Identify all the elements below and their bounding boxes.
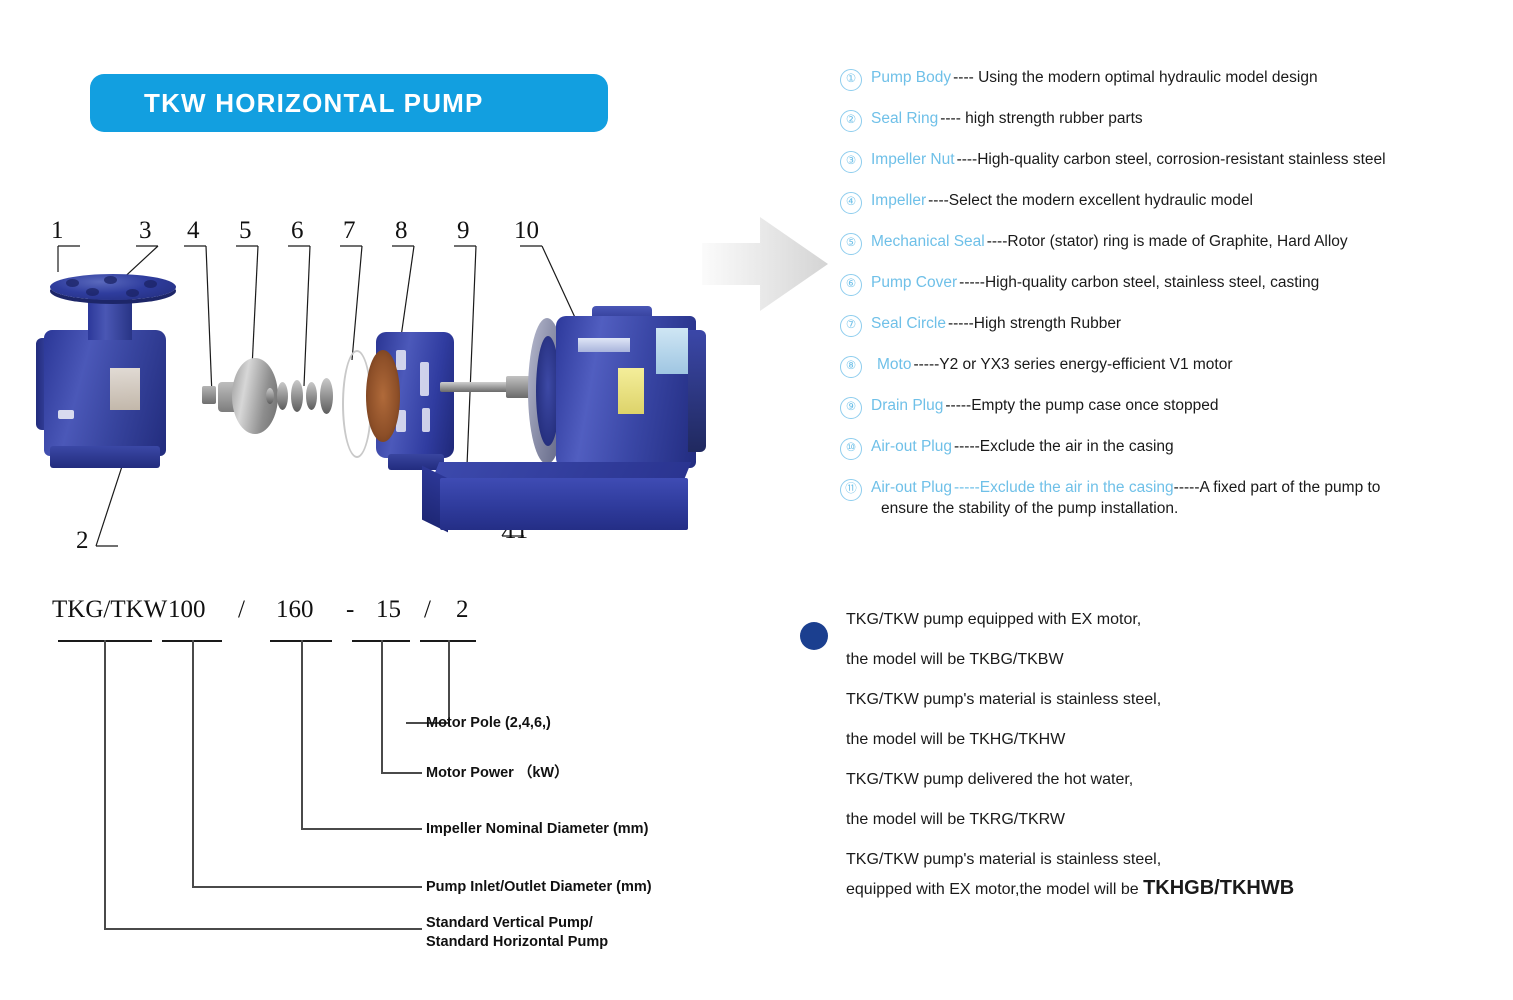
model-code-arm-power bbox=[381, 772, 422, 774]
callout-6: 6 bbox=[291, 218, 304, 243]
legend-separator: ----- bbox=[959, 274, 985, 291]
legend-separator: ---- bbox=[953, 69, 974, 86]
legend-number-icon: ⑥ bbox=[840, 274, 862, 296]
legend-item-7: ⑦ Seal Circle-----High strength Rubber bbox=[840, 314, 1500, 337]
page-title-badge: TKW HORIZONTAL PUMP bbox=[90, 74, 608, 132]
bullet-dot-icon bbox=[800, 622, 828, 650]
poster-root: TKW HORIZONTAL PUMP 1 3 4 5 6 7 bbox=[0, 0, 1513, 1000]
legend-part-desc: Y2 or YX3 series energy-efficient V1 mot… bbox=[939, 356, 1232, 373]
callout-4: 4 bbox=[187, 218, 200, 243]
model-code-arm-inlet bbox=[192, 886, 422, 888]
legend-item-body: Seal Ring---- high strength rubber parts bbox=[871, 109, 1500, 130]
legend-part-name: Mechanical Seal bbox=[871, 233, 985, 250]
legend-item-3: ③ Impeller Nut----High-quality carbon st… bbox=[840, 150, 1500, 173]
legend-number-icon: ④ bbox=[840, 192, 862, 214]
legend-separator: ----- bbox=[913, 356, 939, 373]
callout-7: 7 bbox=[343, 218, 356, 243]
model-code-label-motor-pole: Motor Pole (2,4,6,) bbox=[426, 714, 551, 733]
legend-number-icon: ① bbox=[840, 69, 862, 91]
legend-separator: ----- bbox=[948, 315, 974, 332]
legend-part-desc: Select the modern excellent hydraulic mo… bbox=[949, 192, 1253, 209]
callout-3: 3 bbox=[139, 218, 152, 243]
callout-5: 5 bbox=[239, 218, 252, 243]
legend-part-desc: Rotor (stator) ring is made of Graphite,… bbox=[1007, 233, 1347, 250]
legend-part-desc: Using the modern optimal hydraulic model… bbox=[974, 69, 1318, 86]
exploded-pump-diagram: 1 3 4 5 6 7 8 9 10 2 11 bbox=[36, 210, 736, 570]
legend-item-body: Moto-----Y2 or YX3 series energy-efficie… bbox=[871, 355, 1500, 376]
legend-item-8: ⑧ Moto-----Y2 or YX3 series energy-effic… bbox=[840, 355, 1500, 378]
model-code-label-standard-pump-line1: Standard Vertical Pump/ bbox=[426, 915, 593, 931]
legend-item-4: ④ Impeller----Select the modern excellen… bbox=[840, 191, 1500, 214]
model-code-impeller: 160 bbox=[276, 596, 314, 624]
model-code-prefix: TKG/TKW bbox=[52, 596, 167, 624]
model-code-stem-power bbox=[381, 640, 383, 772]
legend-item-body: Impeller----Select the modern excellent … bbox=[871, 191, 1500, 212]
legend-number-icon: ⑧ bbox=[840, 356, 862, 378]
pump-body-discharge-flange bbox=[50, 274, 176, 300]
model-code-label-motor-power: Motor Power （kW） bbox=[426, 764, 569, 783]
motor-fan-cover bbox=[688, 330, 706, 452]
legend-separator: ---- bbox=[940, 110, 961, 127]
note-line-3: TKG/TKW pump's material is stainless ste… bbox=[846, 692, 1440, 708]
legend-separator: ----- bbox=[954, 438, 980, 455]
legend-separator: ---- bbox=[928, 192, 949, 209]
callout-9: 9 bbox=[457, 218, 470, 243]
legend-number-icon: ⑦ bbox=[840, 315, 862, 337]
motor-label-strip bbox=[578, 338, 630, 352]
legend-item-11: ⑪ Air-out Plug-----Exclude the air in th… bbox=[840, 478, 1500, 520]
legend-part-desc: Exclude the air in the casing bbox=[980, 479, 1174, 496]
mechanical-seal-ring-3 bbox=[291, 380, 303, 412]
motor-nameplate-blue bbox=[656, 328, 688, 374]
parts-legend-list: ① Pump Body---- Using the modern optimal… bbox=[840, 68, 1500, 538]
legend-item-2: ② Seal Ring---- high strength rubber par… bbox=[840, 109, 1500, 132]
legend-item-body: Pump Cover-----High-quality carbon steel… bbox=[871, 273, 1500, 294]
legend-item-body: Pump Body---- Using the modern optimal h… bbox=[871, 68, 1500, 89]
legend-separator: ----- bbox=[945, 397, 971, 414]
legend-number-icon: ⑪ bbox=[840, 479, 862, 501]
legend-separator: ----- bbox=[954, 479, 980, 496]
pump-body-neck bbox=[88, 296, 132, 340]
legend-item-body: Seal Circle-----High strength Rubber bbox=[871, 314, 1500, 335]
model-code-label-standard-pump-line2: Standard Horizontal Pump bbox=[426, 934, 608, 950]
legend-part-desc: Empty the pump case once stopped bbox=[971, 397, 1218, 414]
model-code-inlet: 100 bbox=[168, 596, 206, 624]
model-code-stem-prefix bbox=[104, 640, 106, 928]
note-line-1: TKG/TKW pump equipped with EX motor, bbox=[846, 612, 1440, 628]
note-line-5: TKG/TKW pump delivered the hot water, bbox=[846, 772, 1440, 788]
mechanical-seal-ring-4 bbox=[306, 382, 317, 410]
legend-part-desc: high strength rubber parts bbox=[961, 110, 1143, 127]
model-code-label-inlet-dia: Pump Inlet/Outlet Diameter (mm) bbox=[426, 878, 652, 897]
legend-item-1: ① Pump Body---- Using the modern optimal… bbox=[840, 68, 1500, 91]
model-code-slash-2: / bbox=[424, 596, 431, 624]
model-naming-notes: TKG/TKW pump equipped with EX motor, the… bbox=[800, 612, 1440, 922]
legend-part-name: Drain Plug bbox=[871, 397, 943, 414]
model-code-pole: 2 bbox=[456, 596, 469, 624]
pump-body-nameplate bbox=[110, 368, 140, 410]
pump-cover-bore bbox=[366, 350, 400, 442]
model-code-stem-inlet bbox=[192, 640, 194, 886]
legend-part-name: Pump Body bbox=[871, 69, 951, 86]
note-line-8-model: TKHGB/TKHWB bbox=[1143, 877, 1294, 899]
model-code-arm-prefix bbox=[104, 928, 422, 930]
legend-item-body: Impeller Nut----High-quality carbon stee… bbox=[871, 150, 1500, 171]
legend-part-name: Air-out Plug bbox=[871, 479, 952, 496]
motor-nameplate-yellow bbox=[618, 368, 644, 414]
flow-arrow bbox=[702, 215, 828, 313]
callout-8: 8 bbox=[395, 218, 408, 243]
callout-10: 10 bbox=[514, 218, 539, 243]
impeller-nut-part bbox=[202, 386, 216, 404]
mechanical-seal-ring-5 bbox=[320, 378, 333, 414]
legend-part-name: Seal Ring bbox=[871, 110, 938, 127]
note-line-7: TKG/TKW pump's material is stainless ste… bbox=[846, 852, 1440, 868]
legend-part-name: Air-out Plug bbox=[871, 438, 952, 455]
notes-body: TKG/TKW pump equipped with EX motor, the… bbox=[846, 612, 1440, 898]
legend-part-desc-2: A fixed part of the pump to bbox=[1199, 479, 1380, 496]
legend-item-10: ⑩ Air-out Plug-----Exclude the air in th… bbox=[840, 437, 1500, 460]
legend-part-name: Seal Circle bbox=[871, 315, 946, 332]
baseplate-part bbox=[440, 478, 688, 530]
legend-number-icon: ⑩ bbox=[840, 438, 862, 460]
legend-separator: ---- bbox=[987, 233, 1008, 250]
legend-part-name: Impeller Nut bbox=[871, 151, 955, 168]
model-code-stem-pole bbox=[448, 640, 450, 722]
legend-item-body: Air-out Plug-----Exclude the air in the … bbox=[871, 437, 1500, 458]
legend-item-body: Air-out Plug-----Exclude the air in the … bbox=[871, 478, 1500, 520]
mechanical-seal-ring-1 bbox=[266, 388, 274, 404]
model-code-label-standard-pump: Standard Vertical Pump/Standard Horizont… bbox=[426, 914, 608, 952]
legend-number-icon: ⑨ bbox=[840, 397, 862, 419]
legend-number-icon: ③ bbox=[840, 151, 862, 173]
legend-part-desc: High-quality carbon steel, stainless ste… bbox=[985, 274, 1319, 291]
drain-plug-port bbox=[58, 410, 74, 419]
legend-part-desc: Exclude the air in the casing bbox=[980, 438, 1174, 455]
legend-part-desc: High strength Rubber bbox=[974, 315, 1121, 332]
legend-part-name: Pump Cover bbox=[871, 274, 957, 291]
legend-item-body: Mechanical Seal----Rotor (stator) ring i… bbox=[871, 232, 1500, 253]
note-line-4: the model will be TKHG/TKHW bbox=[846, 732, 1440, 748]
legend-part-desc: High-quality carbon steel, corrosion-res… bbox=[977, 151, 1385, 168]
model-code-power: 15 bbox=[376, 596, 401, 624]
legend-item-5: ⑤ Mechanical Seal----Rotor (stator) ring… bbox=[840, 232, 1500, 255]
note-line-8-text: equipped with EX motor,the model will be bbox=[846, 881, 1143, 898]
model-code-slash-1: / bbox=[238, 596, 245, 624]
callout-1: 1 bbox=[51, 218, 64, 243]
mechanical-seal-ring-2 bbox=[277, 382, 288, 410]
legend-item-body: Drain Plug-----Empty the pump case once … bbox=[871, 396, 1500, 417]
note-line-6: the model will be TKRG/TKRW bbox=[846, 812, 1440, 828]
legend-item-9: ⑨ Drain Plug-----Empty the pump case onc… bbox=[840, 396, 1500, 419]
legend-part-name: Impeller bbox=[871, 192, 926, 209]
model-code-arm-impeller bbox=[301, 828, 422, 830]
model-code-stem-impeller bbox=[301, 640, 303, 828]
pump-body-casing bbox=[44, 330, 166, 456]
legend-part-name: Moto bbox=[877, 356, 911, 373]
legend-part-desc-cont: ensure the stability of the pump install… bbox=[881, 499, 1500, 520]
callout-2: 2 bbox=[76, 528, 89, 553]
model-code-label-impeller-dia: Impeller Nominal Diameter (mm) bbox=[426, 820, 648, 839]
legend-item-6: ⑥ Pump Cover-----High-quality carbon ste… bbox=[840, 273, 1500, 296]
model-code-diagram: TKG/TKW 100 / 160 - 15 / 2 Motor Pole (2… bbox=[36, 596, 736, 966]
model-code-dash: - bbox=[346, 596, 354, 624]
legend-separator: ---- bbox=[957, 151, 978, 168]
legend-number-icon: ② bbox=[840, 110, 862, 132]
note-line-2: the model will be TKBG/TKBW bbox=[846, 652, 1440, 668]
pump-body-base-foot bbox=[50, 446, 160, 468]
legend-separator-2: ----- bbox=[1174, 479, 1200, 496]
legend-number-icon: ⑤ bbox=[840, 233, 862, 255]
page-title: TKW HORIZONTAL PUMP bbox=[144, 88, 484, 119]
note-line-8: equipped with EX motor,the model will be… bbox=[846, 878, 1440, 898]
